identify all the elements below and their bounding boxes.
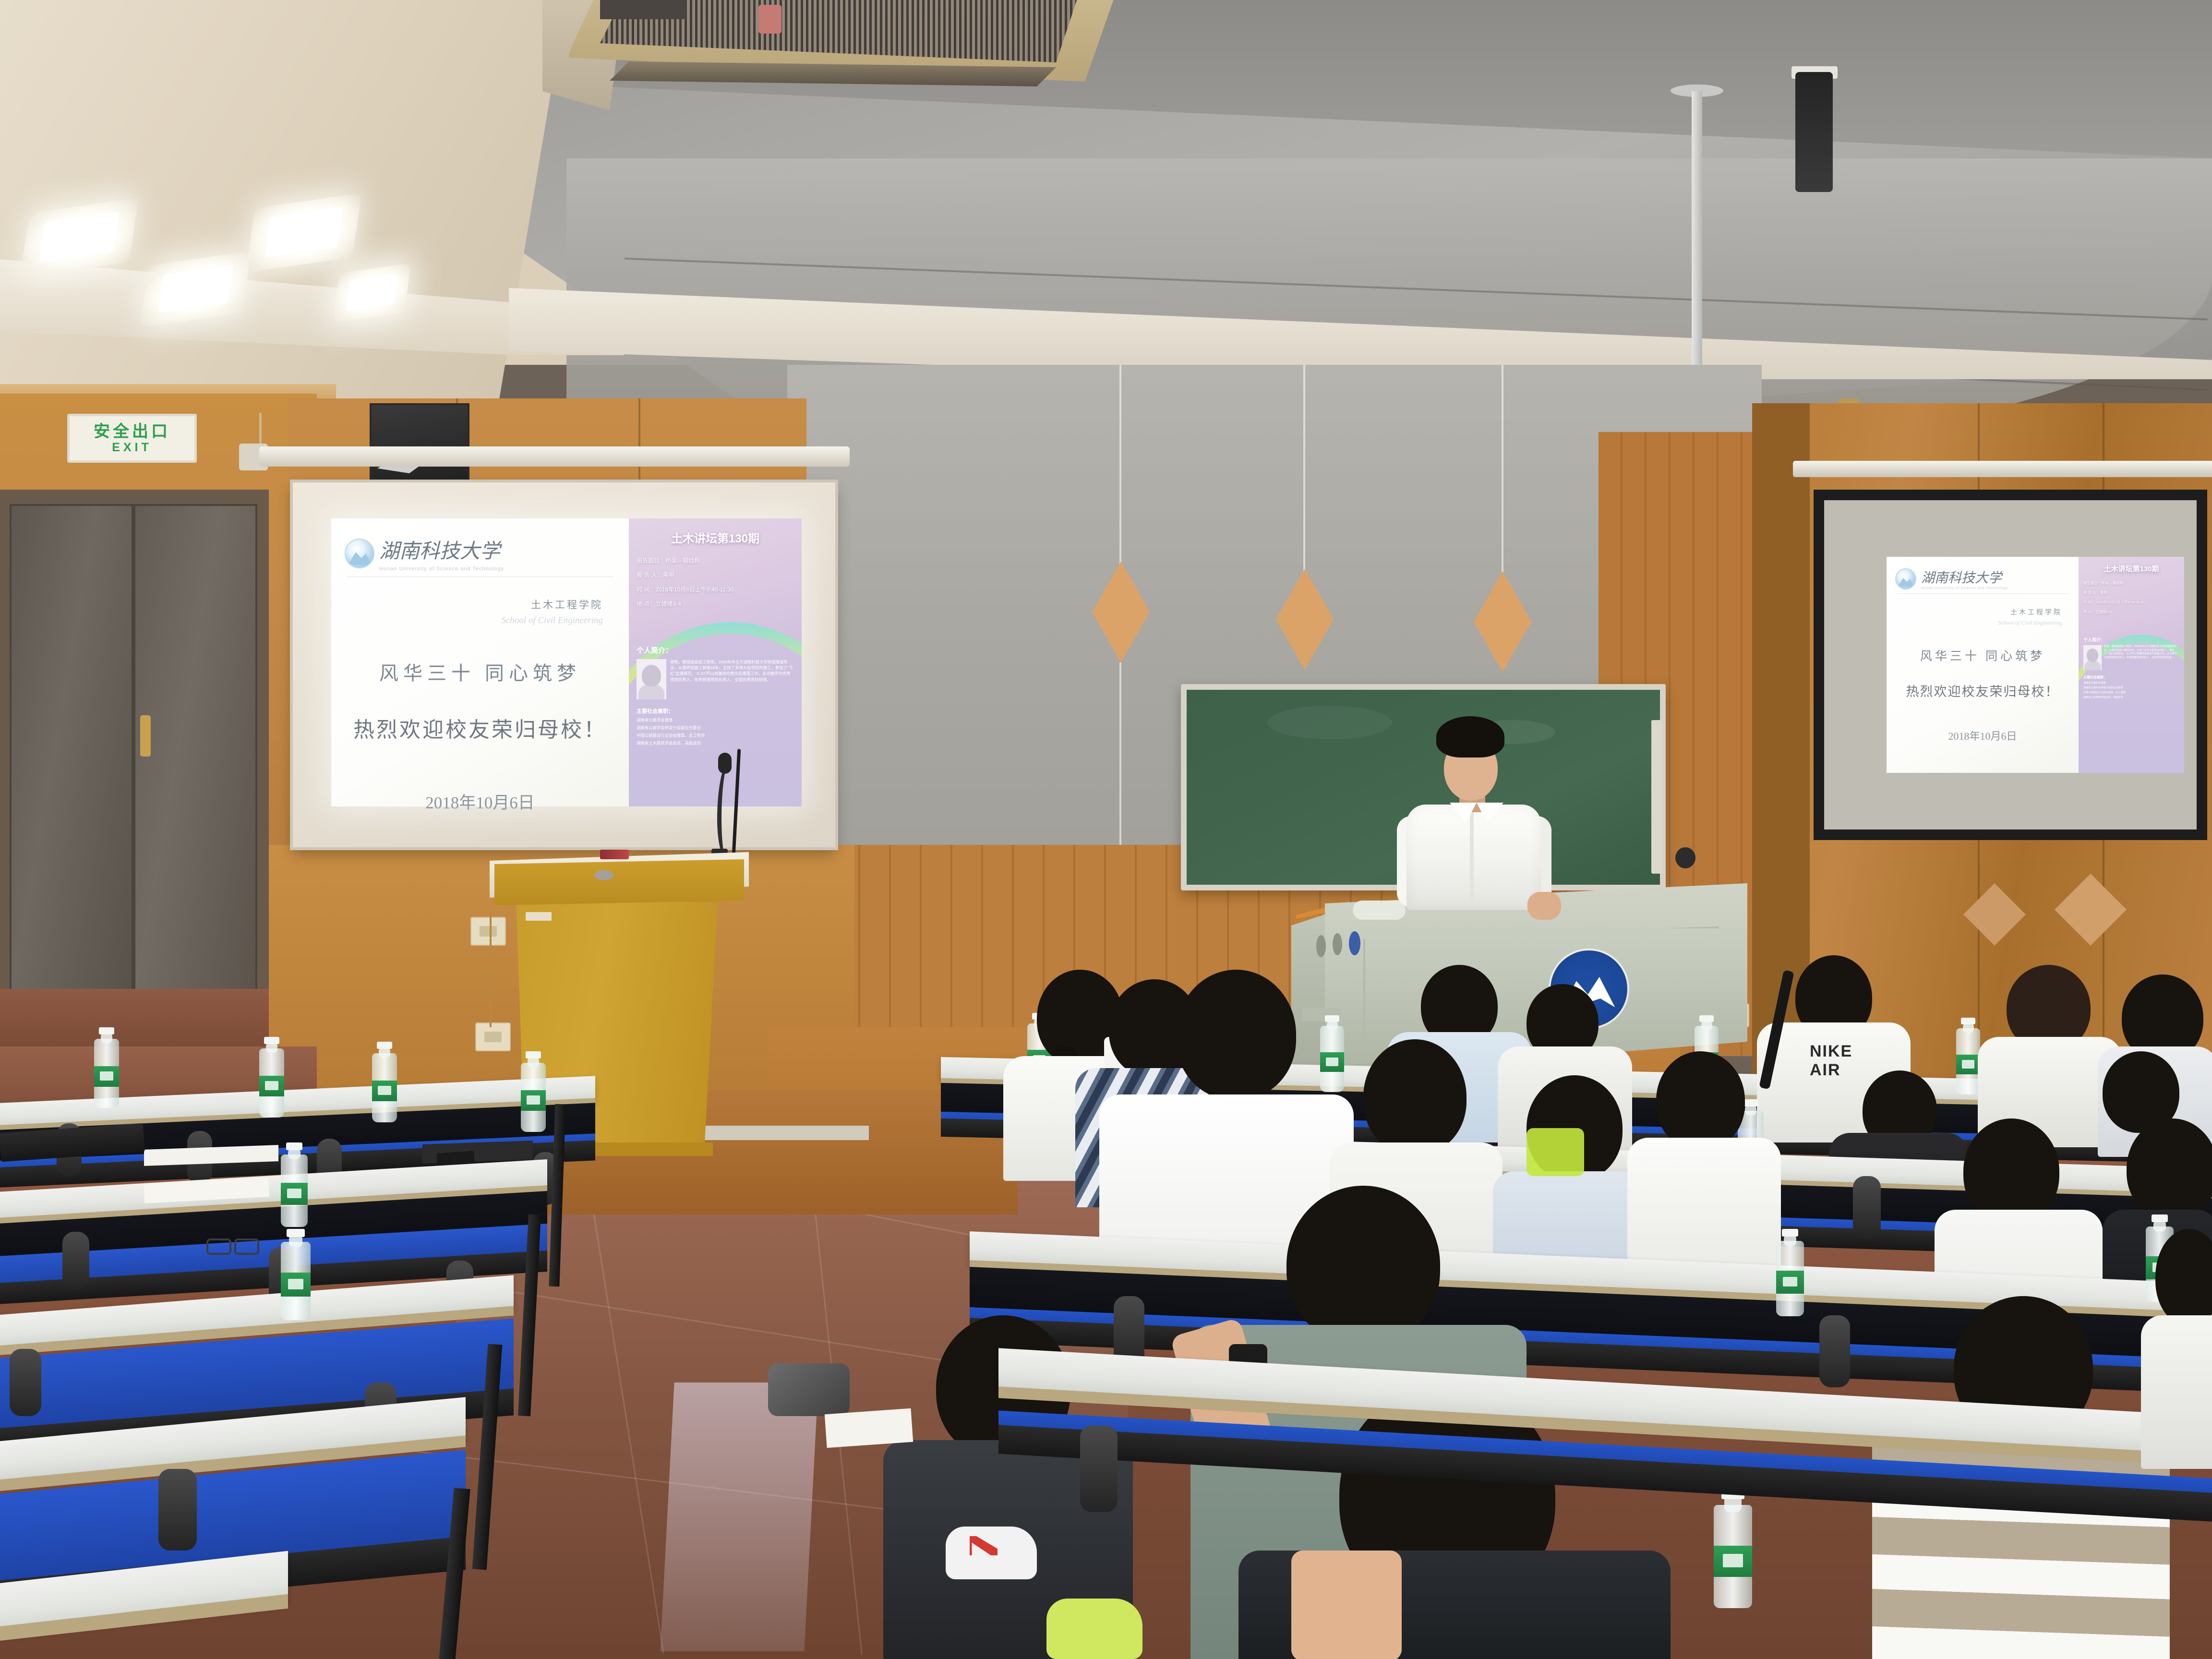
water-bottle[interactable] <box>1714 1488 1752 1608</box>
slide2-right-line: 时 间：2018年10月6日上午9:40-11:30 <box>2083 600 2179 605</box>
slide-right-title: 土木讲坛第130期 <box>637 529 794 546</box>
slide-date: 2018年10月6日 <box>345 789 615 814</box>
slide2-right-line: 报 告 人：蒋明 <box>2083 590 2179 595</box>
tissue-on-desk[interactable] <box>825 1408 913 1448</box>
slide2-date: 2018年10月6日 <box>1895 728 2070 743</box>
armrest <box>1819 1315 1850 1387</box>
slide-right-line: 报告题目：桥梁—钢结构 <box>637 556 794 565</box>
slide2-right-line: 报告题目：桥梁—钢结构 <box>2083 580 2179 586</box>
projected-slide-secondary: 湖南科技大学 Hunan University of Science and T… <box>1887 557 2184 773</box>
armrest <box>10 1349 41 1416</box>
socket-conduit <box>490 912 492 1027</box>
student-head <box>2127 1118 2212 1219</box>
slide2-bio-heading: 个人简介： <box>2083 637 2179 643</box>
slide-school-zh: 土木工程学院 <box>345 597 603 612</box>
console-lock-plate <box>1353 901 1406 920</box>
projection-screen-roller[interactable] <box>259 446 850 467</box>
wall-socket[interactable] <box>470 917 506 946</box>
presenter-shirt <box>1407 805 1541 910</box>
ac-indicator <box>758 5 781 34</box>
student-head <box>1656 1051 1745 1150</box>
slide-school-en: School of Civil Engineering <box>345 615 603 626</box>
wall-socket[interactable] <box>475 1022 511 1051</box>
slide-reflection-on-floor <box>660 1382 818 1651</box>
chalk-smudge <box>1267 706 1392 739</box>
slide-footer-line: 湖南省公路学会理事 <box>637 717 794 723</box>
slide-footer-heading: 主要社会兼职： <box>637 707 794 715</box>
lecture-hall-photo: 安全出口 EXIT 湖南科技大学 Hunan University of Sci… <box>0 0 2212 1659</box>
slide2-school-en: School of Civil Engineering <box>1895 619 2062 626</box>
slide2-university-header: 湖南科技大学 Hunan University of Science and T… <box>1895 567 2070 590</box>
blackboard-slide-rail[interactable] <box>1651 720 1662 874</box>
university-logo-icon <box>1895 568 1916 589</box>
slide-university-header: 湖南科技大学 Hunan University of Science and T… <box>345 535 615 572</box>
eyeglasses[interactable] <box>206 1238 259 1253</box>
ceiling-speaker-mount <box>1795 72 1833 192</box>
slide2-right-line: 地 点：立德楼3-4 <box>2083 609 2179 614</box>
exit-door-left[interactable] <box>10 504 133 1046</box>
slide2-motto: 风华三十 同心筑梦 <box>1895 647 2070 664</box>
slide2-footer-line: 湖南省公路学会桥梁分会副主任委员 <box>2083 686 2179 689</box>
slide-right-line: 地 点：立德楼3-4 <box>637 600 794 608</box>
lectern-knob-icon[interactable] <box>594 870 613 880</box>
student-body <box>1627 1138 1781 1277</box>
armrest <box>158 1469 197 1551</box>
floor-step <box>0 989 269 1046</box>
grey-item-on-desk[interactable] <box>768 1363 850 1416</box>
sneaker-green <box>1046 1599 1142 1659</box>
student-head <box>1286 1186 1440 1344</box>
ac-dark-recess <box>600 0 686 19</box>
lectern-item[interactable] <box>600 850 629 859</box>
blackboard-knob-icon[interactable] <box>1675 847 1695 868</box>
diamond-drop-line <box>1119 365 1121 566</box>
water-bottle[interactable] <box>94 1027 119 1108</box>
console-vent <box>1316 935 1326 957</box>
slide2-bio-text: 蒋明，教授级高级工程师，2000年毕业于湖南科技大学桥梁隧道专业，从事桥梁施工管… <box>2104 645 2179 670</box>
water-bottle[interactable] <box>372 1042 397 1122</box>
speaker-photo <box>2083 645 2102 670</box>
slide-footer-line: 湖南省公路学会桥梁分会副主任委员 <box>637 725 794 731</box>
armrest <box>1853 1176 1881 1238</box>
presenter-hand <box>1527 892 1561 920</box>
slide2-welcome: 热烈欢迎校友荣归母校！ <box>1895 681 2070 700</box>
student-head <box>1363 1039 1467 1154</box>
slide-footer-line: 湖南省土木建筑学会会员、高级会员 <box>637 740 794 746</box>
presenter-hair <box>1436 716 1504 757</box>
microphone-icon[interactable] <box>718 753 732 774</box>
student-body <box>2141 1315 2212 1469</box>
water-bottle[interactable] <box>1956 1018 1980 1094</box>
speaker-photo <box>637 659 666 699</box>
presenter-shirt-placket <box>1470 811 1474 902</box>
slide-bio-text: 蒋明，教授级高级工程师，2000年毕业于湖南科技大学桥梁隧道专业，从事桥梁施工管… <box>670 659 794 699</box>
slide-bio-heading: 个人简介： <box>637 645 794 655</box>
slide2-school-zh: 土木工程学院 <box>1895 607 2062 617</box>
exit-sign-english: EXIT <box>112 442 152 454</box>
lectern-label-tag <box>526 912 552 921</box>
water-bottle[interactable] <box>281 1229 311 1320</box>
secondary-screen-roller[interactable] <box>1793 461 2212 477</box>
slide-welcome: 热烈欢迎校友荣归母校！ <box>345 712 615 743</box>
slide2-right-title: 土木讲坛第130期 <box>2083 564 2179 574</box>
slide2-university-en: Hunan University of Science and Technolo… <box>1921 587 2008 590</box>
slide2-university-zh: 湖南科技大学 <box>1921 567 2008 587</box>
university-logo-icon <box>345 539 374 568</box>
water-bottle[interactable] <box>281 1142 308 1227</box>
slide2-footer-heading: 主要社会兼职： <box>2083 675 2179 680</box>
water-bottle[interactable] <box>521 1051 546 1132</box>
exit-door-right[interactable] <box>133 504 257 1046</box>
student-head <box>1963 1118 2059 1224</box>
armrest <box>62 1232 89 1289</box>
slide-footer-line: 中国公路建设行业协会理事、总工程师 <box>637 733 794 738</box>
neon-green-accent <box>1527 1128 1584 1176</box>
diamond-drop-line <box>1303 365 1305 574</box>
exit-sign-chinese: 安全出口 <box>94 423 170 440</box>
diamond-drop-line <box>1502 365 1503 576</box>
lectern-front-band <box>494 859 744 905</box>
armrest <box>1080 1426 1118 1512</box>
water-bottle[interactable] <box>259 1037 284 1118</box>
water-bottle[interactable] <box>1320 1015 1344 1092</box>
console-vent <box>1333 933 1342 955</box>
emergency-exit-sign: 安全出口 EXIT <box>67 414 197 463</box>
console-port[interactable] <box>1349 931 1360 955</box>
student-head <box>1176 970 1296 1099</box>
slide2-footer-line: 湖南省土木建筑学会会员、高级会员 <box>2083 696 2179 699</box>
slide-university-en: Hunan University of Science and Technolo… <box>379 566 504 572</box>
slide2-footer-line: 湖南省公路学会理事 <box>2083 681 2179 685</box>
slide-motto: 风华三十 同心筑梦 <box>345 658 615 685</box>
student-arm <box>1291 1551 1402 1659</box>
slide2-footer-line: 中国公路建设行业协会理事、总工程师 <box>2083 691 2179 694</box>
nike-shirt-text: NIKE AIR <box>1810 1046 1882 1075</box>
slide-university-zh: 湖南科技大学 <box>379 535 504 564</box>
slide-right-line: 报 告 人：蒋明 <box>637 571 794 579</box>
water-bottle[interactable] <box>1776 1229 1804 1316</box>
slide-right-line: 时 间：2018年10月6日上午9:40-11:30 <box>637 585 794 593</box>
door-handle-icon[interactable] <box>140 715 151 757</box>
